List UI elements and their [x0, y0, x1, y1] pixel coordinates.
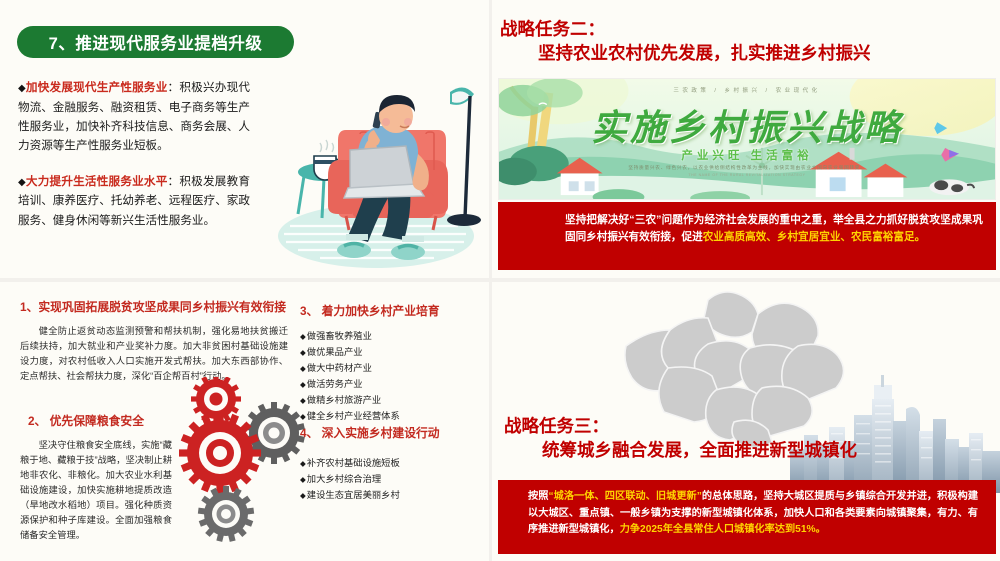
service-paragraph-2: ◆大力提升生活性服务业水平：积极发展教育培训、康养医疗、托幼养老、远程医疗、家政…	[18, 172, 250, 230]
list-item-label: 补齐农村基础设施短板	[307, 458, 400, 468]
list-item: ◆做活劳务产业	[300, 376, 482, 392]
service-paragraph-2-colon: ：	[168, 175, 180, 188]
banner-fine-line-1: 坚持质量兴农、绿色兴农，以农业供给侧结构性改革为主线，加快实现由农业大国向农业强…	[499, 165, 995, 171]
man-on-sofa-with-laptop-illustration	[268, 68, 490, 272]
strategic-task-three-line1: 战略任务三：	[504, 414, 974, 438]
section-3-heading: 3、 着力加快乡村产业培育	[300, 302, 482, 319]
list-item: ◆建设生态宜居美丽乡村	[300, 487, 482, 503]
strategic-task-two-red-box: 坚持把解决好“三农”问题作为经济社会发展的重中之重，举全县之力抓好脱贫攻坚成果巩…	[498, 202, 996, 270]
list-item-label: 做优果品产业	[307, 347, 363, 357]
list-item-label: 做大中药材产业	[307, 363, 372, 373]
service-paragraph-2-heading: 大力提升生活性服务业水平	[26, 175, 168, 188]
strategic-task-two-title: 战略任务二： 坚持农业农村优先发展，扎实推进乡村振兴	[500, 18, 996, 65]
panel-bottom-right: 战略任务三： 统筹城乡融合发展，全面推进新型城镇化 按照“城洛一体、四区联动、旧…	[492, 282, 1000, 561]
task-three-text-seg4: 力争2025年全县常住人口城镇化率达到51%。	[620, 524, 826, 535]
section-3-list: ◆做强畜牧养殖业 ◆做优果品产业 ◆做大中药材产业 ◆做活劳务产业 ◆做精乡村旅…	[300, 328, 482, 424]
diamond-bullet-icon: ◆	[300, 364, 306, 373]
diamond-bullet-icon: ◆	[18, 177, 26, 188]
diamond-bullet-icon: ◆	[300, 348, 306, 357]
diamond-bullet-icon: ◆	[300, 332, 306, 341]
section-4-heading: 4、 深入实施乡村建设行动	[300, 424, 482, 441]
strategic-task-two-line1: 战略任务二：	[500, 18, 996, 42]
panel-top-right: 战略任务二： 坚持农业农村优先发展，扎实推进乡村振兴	[492, 0, 1000, 278]
section-1-body: 健全防止返贫动态监测预警和帮扶机制，强化易地扶贫搬迁后续扶持，加大就业和产业奖补…	[20, 324, 288, 384]
section-1-block: 1、实现巩固拓展脱贫攻坚成果同乡村振兴有效衔接 健全防止返贫动态监测预警和帮扶机…	[20, 298, 288, 384]
rural-revitalization-banner: 三农政策 / 乡村振兴 / 农业现代化 实施乡村振兴战略 产业兴旺 生活富裕 坚…	[498, 78, 996, 200]
section-2-body: 坚决守住粮食安全底线，实施“藏粮于地、藏粮于技”战略，坚决制止耕地非农化、非粮化…	[20, 438, 172, 543]
diamond-bullet-icon: ◆	[18, 83, 26, 94]
strategic-task-two-line2: 坚持农业农村优先发展，扎实推进乡村振兴	[500, 42, 996, 66]
strategic-task-two-text: 坚持把解决好“三农”问题作为经济社会发展的重中之重，举全县之力抓好脱贫攻坚成果巩…	[565, 212, 983, 246]
gears-decoration	[168, 377, 318, 547]
section-4-block: 4、 深入实施乡村建设行动 ◆补齐农村基础设施短板 ◆加大乡村综合治理 ◆建设生…	[300, 424, 482, 503]
task-three-text-seg2: “城洛一体、四区联动、旧城更新”	[548, 491, 701, 502]
panel-bottom-left: 1、实现巩固拓展脱贫攻坚成果同乡村振兴有效衔接 健全防止返贫动态监测预警和帮扶机…	[0, 282, 489, 561]
list-item: ◆做精乡村旅游产业	[300, 392, 482, 408]
section-1-heading: 1、实现巩固拓展脱贫攻坚成果同乡村振兴有效衔接	[20, 298, 288, 315]
banner-fine-line-2: THE NAME OF THE RURAL REVITALIZATION STR…	[499, 173, 995, 177]
section-badge-7: 7、推进现代服务业提档升级	[17, 26, 294, 58]
service-paragraph-1-heading: 加快发展现代生产性服务业	[26, 81, 168, 94]
panel-top-left: 7、推进现代服务业提档升级 ◆加快发展现代生产性服务业：积极兴办现代物流、金融服…	[0, 0, 489, 278]
service-paragraph-1-colon: ：	[168, 81, 180, 94]
section-2-block: 2、 优先保障粮食安全 坚决守住粮食安全底线，实施“藏粮于地、藏粮于技”战略，坚…	[20, 412, 172, 543]
list-item-label: 健全乡村产业经营体系	[307, 411, 400, 421]
banner-main-title: 实施乡村振兴战略	[499, 99, 995, 151]
strategic-task-three-text: 按照“城洛一体、四区联动、旧城更新”的总体思路，坚持大城区提质与乡镇综合开发并进…	[528, 489, 978, 539]
list-item: ◆健全乡村产业经营体系	[300, 408, 482, 424]
task-two-text-highlight: 农业高质高效、乡村宜居宜业、农民富裕富足。	[703, 231, 925, 243]
section-4-list: ◆补齐农村基础设施短板 ◆加大乡村综合治理 ◆建设生态宜居美丽乡村	[300, 455, 482, 503]
list-item-label: 做强畜牧养殖业	[307, 331, 372, 341]
strategic-task-three-line2: 统筹城乡融合发展，全面推进新型城镇化	[504, 438, 974, 462]
section-badge-label: 7、推进现代服务业提档升级	[49, 30, 263, 54]
list-item: ◆做大中药材产业	[300, 360, 482, 376]
strategic-task-three-red-box: 按照“城洛一体、四区联动、旧城更新”的总体思路，坚持大城区提质与乡镇综合开发并进…	[498, 480, 996, 554]
slide-root: 7、推进现代服务业提档升级 ◆加快发展现代生产性服务业：积极兴办现代物流、金融服…	[0, 0, 1000, 561]
service-paragraph-1: ◆加快发展现代生产性服务业：积极兴办现代物流、金融服务、融资租赁、电子商务等生产…	[18, 78, 250, 155]
banner-subtitle: 三农政策 / 乡村振兴 / 农业现代化	[499, 86, 995, 94]
top-left-body: ◆加快发展现代生产性服务业：积极兴办现代物流、金融服务、融资租赁、电子商务等生产…	[18, 78, 250, 247]
strategic-task-three-title: 战略任务三： 统筹城乡融合发展，全面推进新型城镇化	[504, 414, 974, 462]
list-item-label: 建设生态宜居美丽乡村	[307, 490, 400, 500]
list-item: ◆做优果品产业	[300, 344, 482, 360]
task-three-text-seg1: 按照	[528, 491, 548, 502]
section-2-heading: 2、 优先保障粮食安全	[20, 412, 172, 429]
list-item: ◆加大乡村综合治理	[300, 471, 482, 487]
list-item: ◆做强畜牧养殖业	[300, 328, 482, 344]
section-3-block: 3、 着力加快乡村产业培育 ◆做强畜牧养殖业 ◆做优果品产业 ◆做大中药材产业 …	[300, 302, 482, 424]
list-item: ◆补齐农村基础设施短板	[300, 455, 482, 471]
banner-tagline: 产业兴旺 生活富裕	[499, 147, 995, 163]
